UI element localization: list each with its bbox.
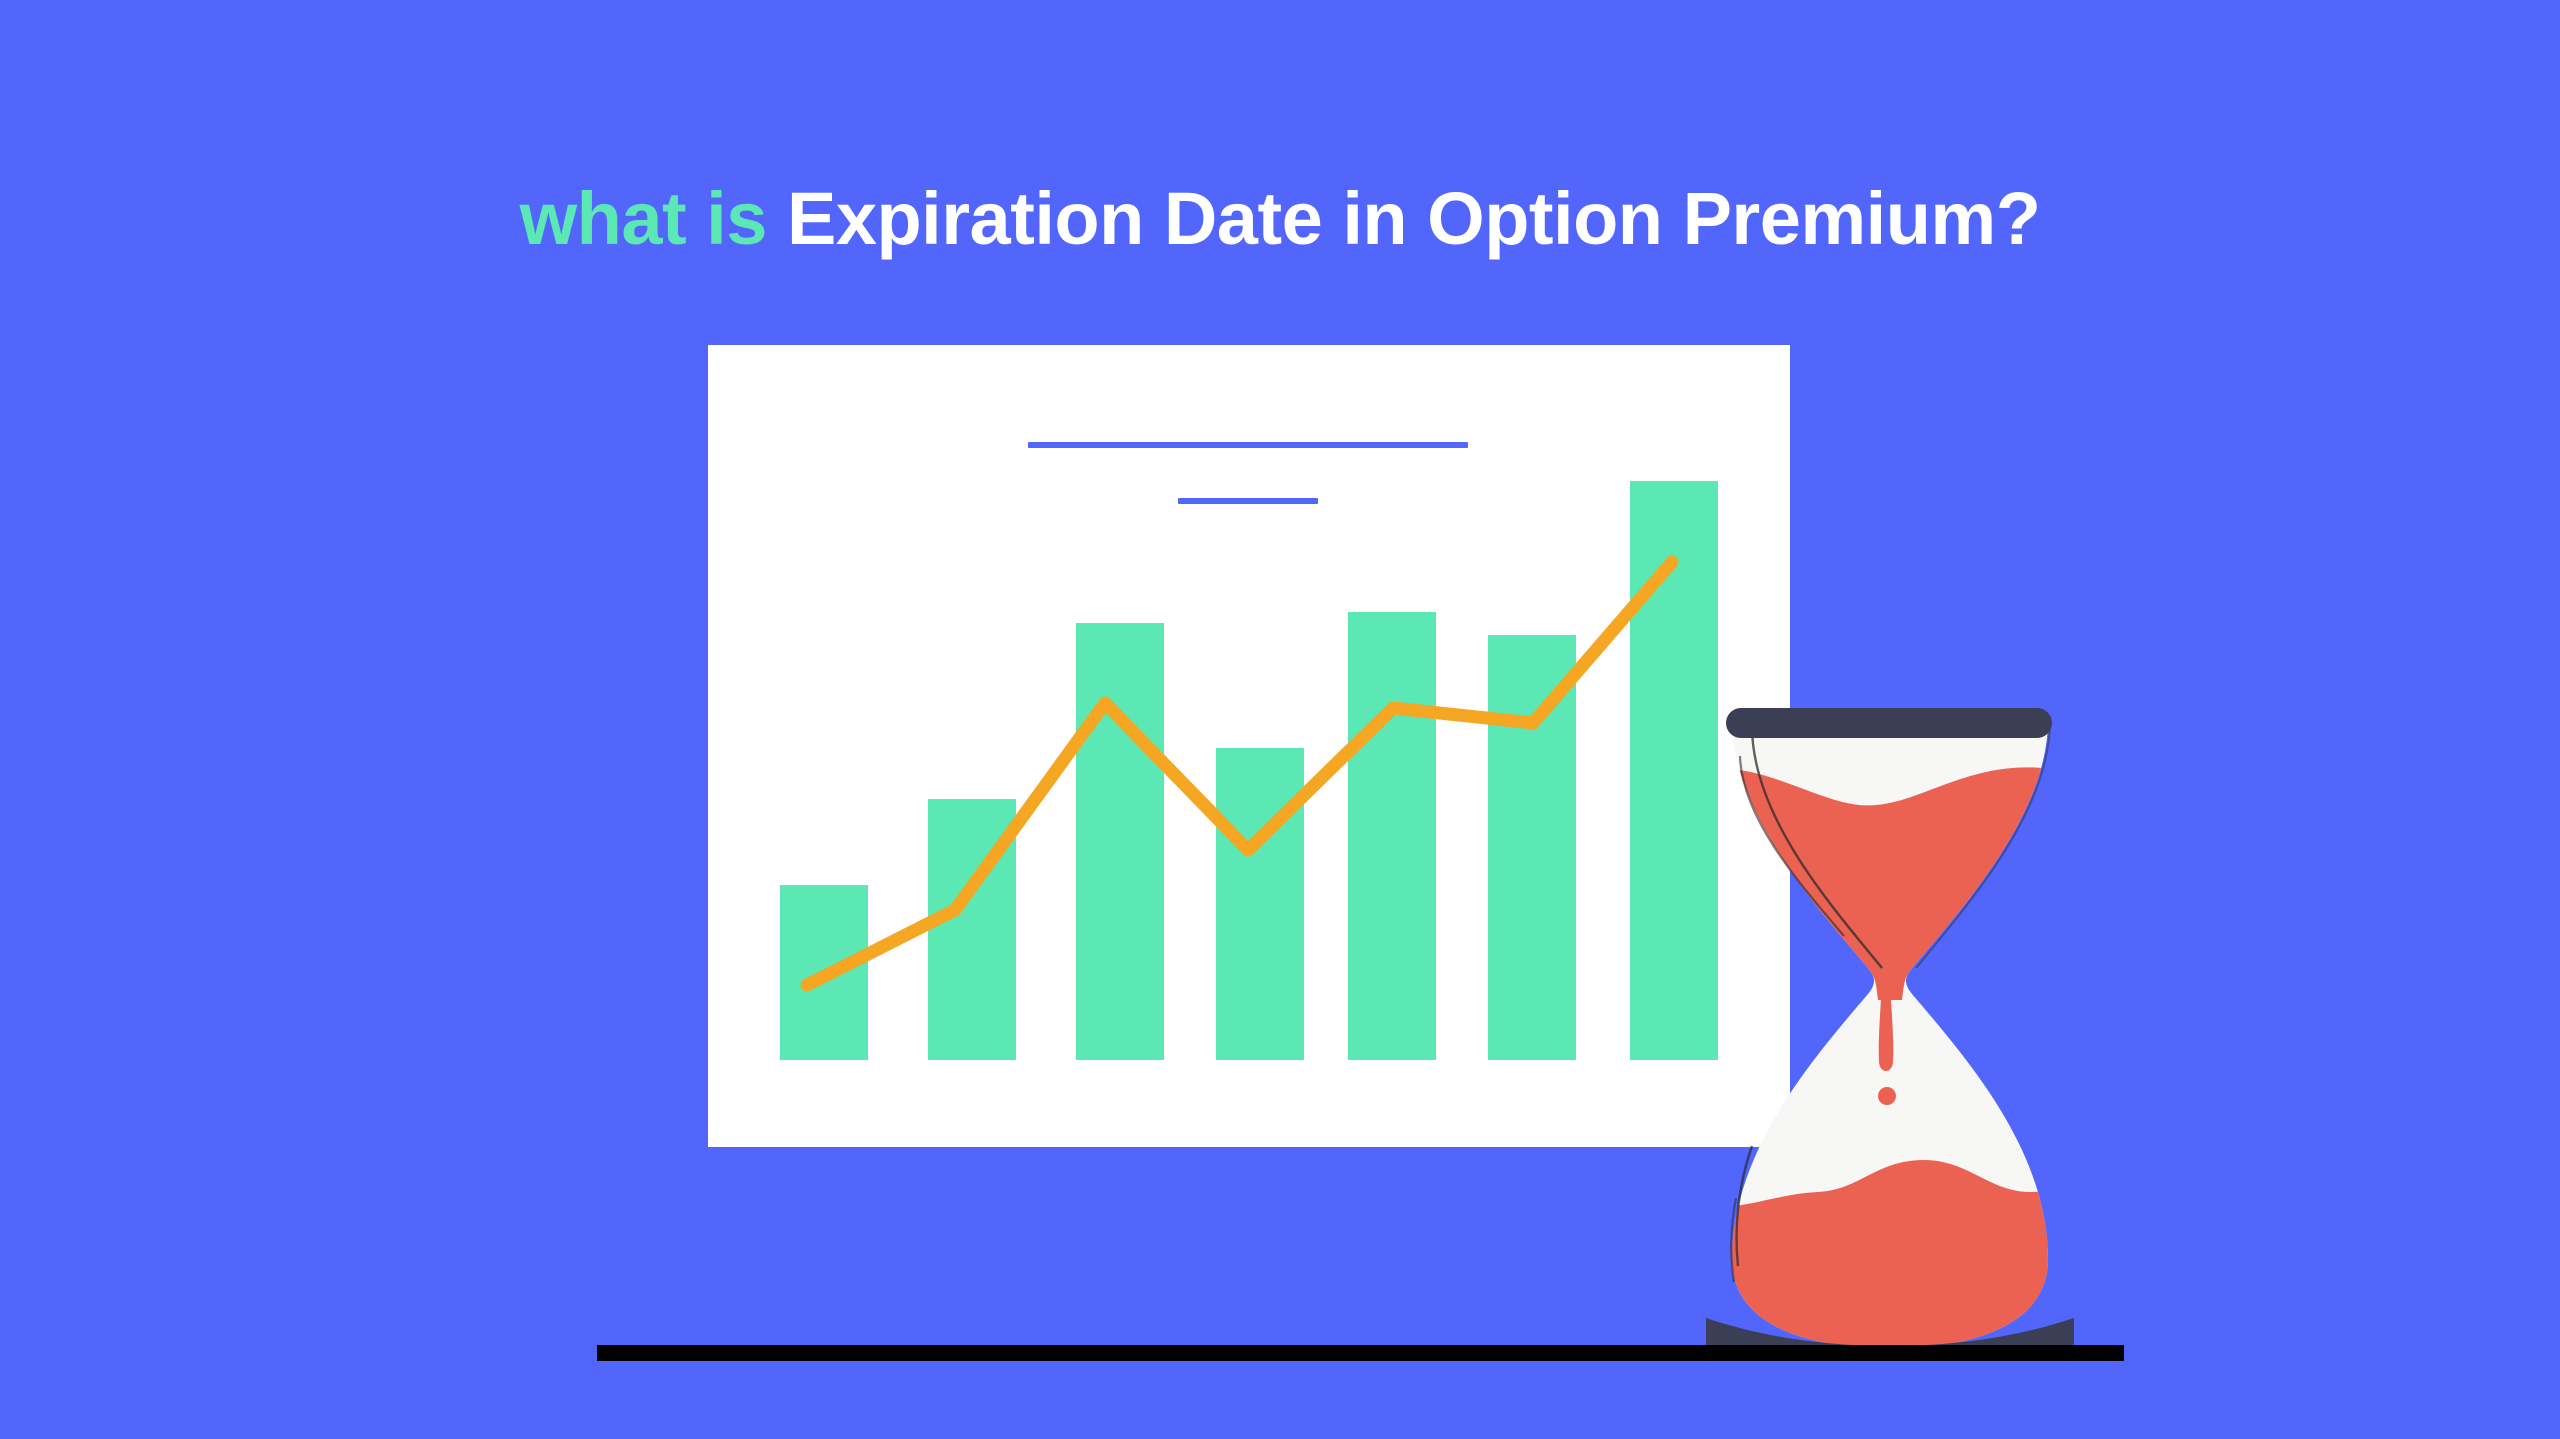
ground-line — [597, 1345, 2124, 1361]
trend-line-path — [807, 562, 1672, 985]
title-accent-text: what is — [520, 177, 787, 260]
trend-line — [708, 345, 1790, 1147]
illustration-canvas: what is Expiration Date in Option Premiu… — [0, 0, 2560, 1439]
hourglass-cap — [1726, 708, 2052, 738]
hourglass-icon — [1700, 700, 2080, 1360]
hourglass-sand-grain — [1878, 1087, 1896, 1105]
title-rest-text: Expiration Date in Option Premium? — [787, 177, 2040, 260]
hourglass-sand-top — [1714, 767, 2080, 1030]
page-title: what is Expiration Date in Option Premiu… — [0, 182, 2560, 256]
